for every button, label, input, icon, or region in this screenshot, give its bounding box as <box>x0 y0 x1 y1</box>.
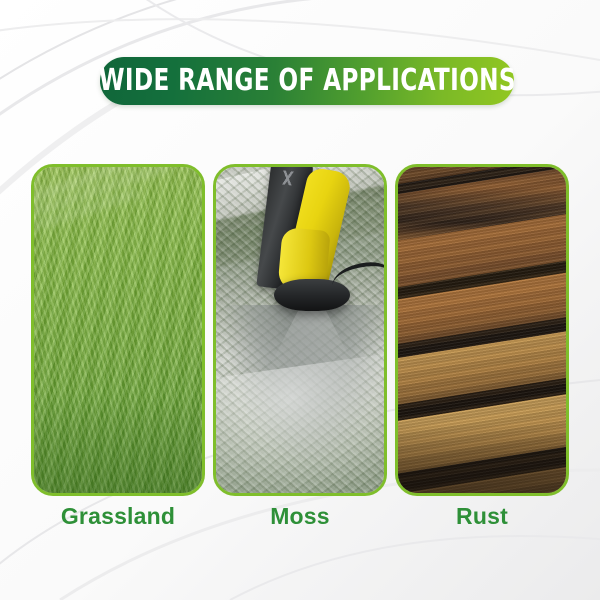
moss-photo <box>216 167 384 493</box>
application-card-moss <box>213 164 387 496</box>
application-card-rust <box>395 164 569 496</box>
heading-banner: WIDE RANGE OF APPLICATIONS <box>100 57 514 105</box>
page-title: WIDE RANGE OF APPLICATIONS <box>98 66 515 96</box>
rust-photo <box>398 167 566 493</box>
rust-bottom-shadow <box>398 423 566 493</box>
grass-foreground-shadow <box>34 393 202 493</box>
card-label-rust: Rust <box>395 504 569 529</box>
application-cards <box>31 164 569 496</box>
card-labels: Grassland Moss Rust <box>31 504 569 529</box>
application-card-grassland <box>31 164 205 496</box>
grassland-photo <box>34 167 202 493</box>
card-label-grassland: Grassland <box>31 504 205 529</box>
card-label-moss: Moss <box>213 504 387 529</box>
washer-brand-logo-icon <box>277 170 299 186</box>
poster-root: WIDE RANGE OF APPLICATIONS <box>0 0 600 600</box>
